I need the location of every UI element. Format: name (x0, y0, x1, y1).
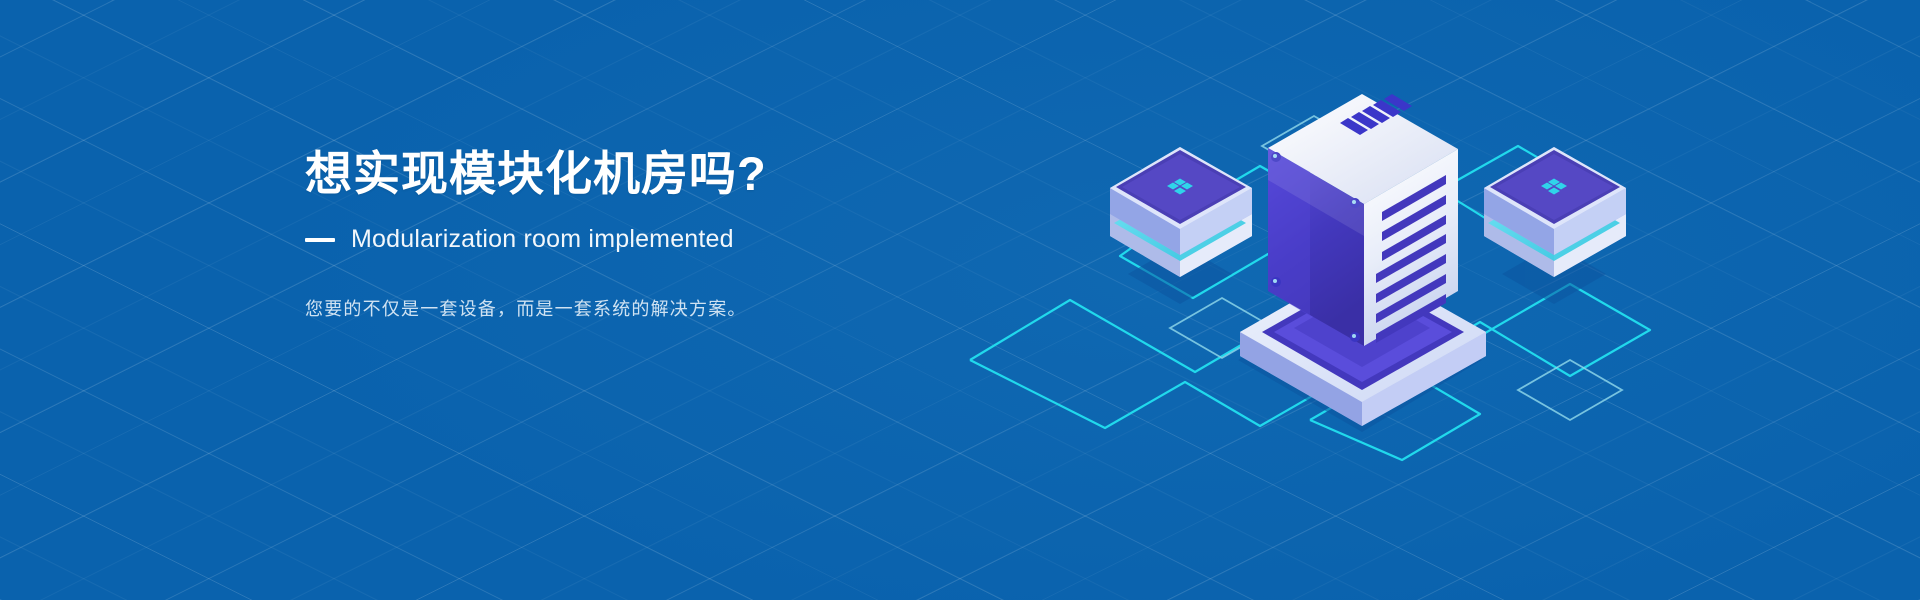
page-subtitle: Modularization room implemented (351, 225, 734, 254)
chip-module-right (1484, 147, 1626, 277)
page-title: 想实现模块化机房吗? (305, 146, 1025, 201)
chip-module-left (1110, 147, 1252, 277)
banner-copy: 想实现模块化机房吗? Modularization room implement… (305, 146, 1025, 325)
subtitle-row: Modularization room implemented (305, 225, 1025, 254)
banner-description: 您要的不仅是一套设备，而是一套系统的解决方案。 (305, 294, 1025, 325)
accent-rule-divider (305, 238, 335, 242)
hero-illustration (1010, 60, 1710, 520)
hero-banner: 想实现模块化机房吗? Modularization room implement… (0, 0, 1920, 600)
